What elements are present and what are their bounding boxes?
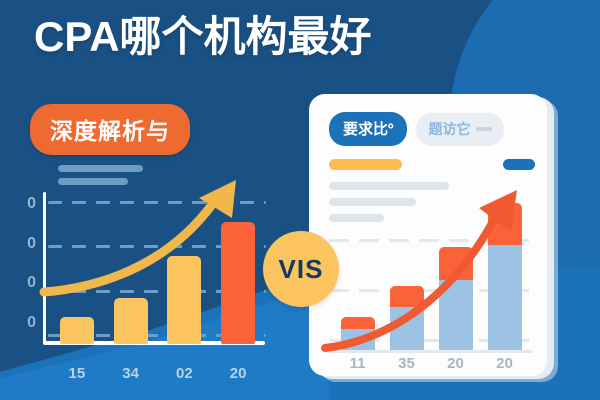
vis-badge: VIS bbox=[263, 231, 339, 307]
card-tab-row: 要求比º 题访它 bbox=[329, 112, 504, 146]
left-chart-x-axis-labels: 15340220 bbox=[50, 365, 265, 382]
x-tick-label: 02 bbox=[167, 365, 201, 382]
x-tick-label: 15 bbox=[60, 365, 94, 382]
up-right-arrow-icon bbox=[36, 172, 271, 302]
tab-secondary-dash-icon bbox=[476, 127, 492, 131]
left-chart-y-axis-labels: 0 0 0 0 bbox=[14, 196, 36, 331]
tab-primary[interactable]: 要求比º bbox=[329, 112, 407, 146]
up-right-arrow-icon bbox=[319, 186, 535, 361]
placeholder-bar-yellow bbox=[329, 159, 402, 170]
x-tick-label: 20 bbox=[221, 365, 255, 382]
y-tick-label: 0 bbox=[27, 275, 36, 291]
bar bbox=[114, 298, 148, 344]
y-tick-label: 0 bbox=[27, 315, 36, 331]
x-tick-label: 34 bbox=[114, 365, 148, 382]
title-block: CPA哪个机构最好 bbox=[34, 14, 372, 60]
decorative-line-1 bbox=[58, 165, 143, 172]
y-tick-label: 0 bbox=[27, 196, 36, 212]
page-title: CPA哪个机构最好 bbox=[34, 14, 372, 60]
vis-badge-label: VIS bbox=[279, 254, 324, 285]
y-tick-label: 0 bbox=[27, 236, 36, 252]
placeholder-bar-blue[interactable] bbox=[503, 159, 535, 170]
report-card: 要求比º 题访它 11352020 bbox=[309, 94, 547, 376]
bar bbox=[60, 317, 94, 344]
tab-secondary[interactable]: 题访它 bbox=[416, 113, 504, 146]
left-bar-chart: 0 0 0 0 15340220 bbox=[14, 160, 294, 390]
tab-secondary-label: 题访它 bbox=[428, 119, 470, 139]
subtitle-badge: 深度解析与 bbox=[30, 104, 190, 155]
